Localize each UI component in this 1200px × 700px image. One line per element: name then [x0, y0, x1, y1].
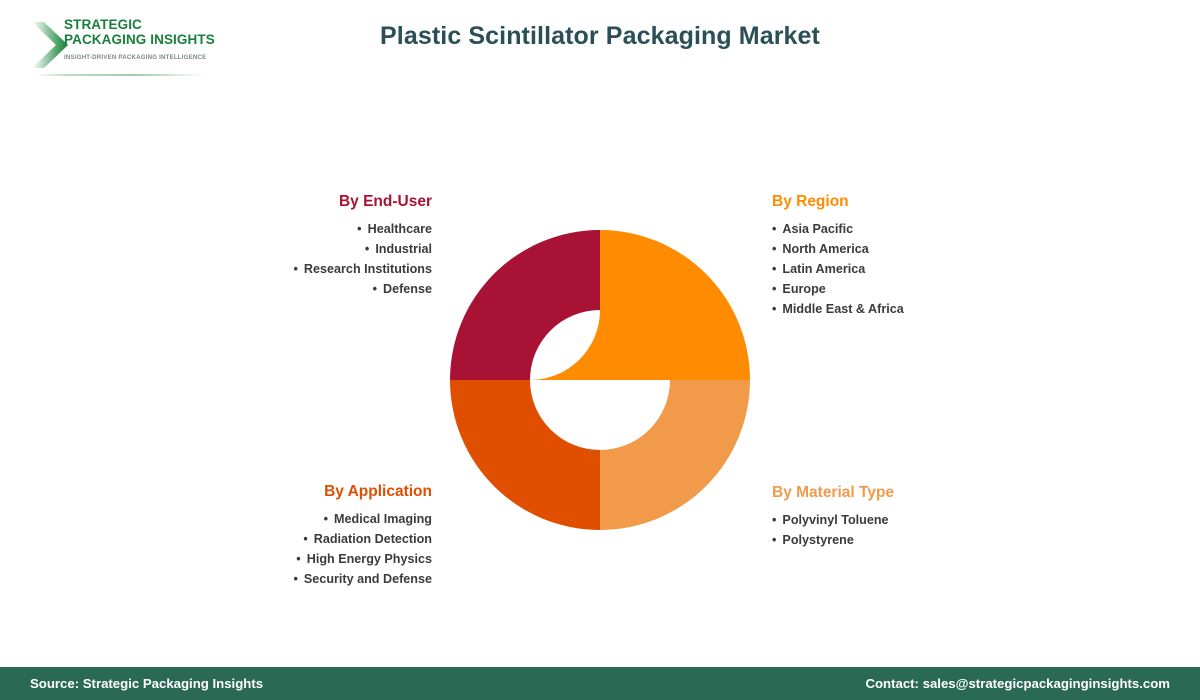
- segment-application-title: By Application: [170, 483, 432, 501]
- segment-material-type-list: Polyvinyl Toluene Polystyrene: [772, 510, 1072, 550]
- list-item: Industrial: [170, 239, 432, 259]
- segment-end-user: By End-User Healthcare Industrial Resear…: [170, 193, 432, 299]
- list-item: Middle East & Africa: [772, 299, 1072, 319]
- list-item: Medical Imaging: [170, 509, 432, 529]
- segment-application: By Application Medical Imaging Radiation…: [170, 483, 432, 589]
- list-item: Polyvinyl Toluene: [772, 510, 1072, 530]
- segment-material-type-title: By Material Type: [772, 484, 1072, 502]
- footer-contact[interactable]: Contact: sales@strategicpackaginginsight…: [865, 676, 1170, 691]
- footer-bar: Source: Strategic Packaging Insights Con…: [0, 667, 1200, 700]
- segment-application-list: Medical Imaging Radiation Detection High…: [170, 509, 432, 589]
- list-item: Research Institutions: [170, 259, 432, 279]
- segment-end-user-list: Healthcare Industrial Research Instituti…: [170, 219, 432, 299]
- list-item: Europe: [772, 279, 1072, 299]
- list-item: High Energy Physics: [170, 549, 432, 569]
- list-item: Asia Pacific: [772, 219, 1072, 239]
- list-item: North America: [772, 239, 1072, 259]
- donut-slice-material-type[interactable]: [600, 380, 750, 530]
- segment-end-user-title: By End-User: [170, 193, 432, 211]
- segment-region-title: By Region: [772, 193, 1072, 211]
- segment-region: By Region Asia Pacific North America Lat…: [772, 193, 1072, 319]
- logo-underline-divider: [36, 74, 204, 76]
- list-item: Security and Defense: [170, 569, 432, 589]
- donut-slice-end-user[interactable]: [450, 230, 600, 380]
- segment-region-list: Asia Pacific North America Latin America…: [772, 219, 1072, 319]
- list-item: Radiation Detection: [170, 529, 432, 549]
- logo-tagline: INSIGHT-DRIVEN PACKAGING INTELLIGENCE: [64, 54, 206, 61]
- donut-chart: [450, 230, 750, 530]
- list-item: Latin America: [772, 259, 1072, 279]
- donut-slice-application[interactable]: [450, 380, 600, 530]
- footer-source: Source: Strategic Packaging Insights: [30, 676, 263, 691]
- page-title: Plastic Scintillator Packaging Market: [0, 22, 1200, 51]
- list-item: Polystyrene: [772, 530, 1072, 550]
- segment-material-type: By Material Type Polyvinyl Toluene Polys…: [772, 484, 1072, 550]
- list-item: Defense: [170, 279, 432, 299]
- list-item: Healthcare: [170, 219, 432, 239]
